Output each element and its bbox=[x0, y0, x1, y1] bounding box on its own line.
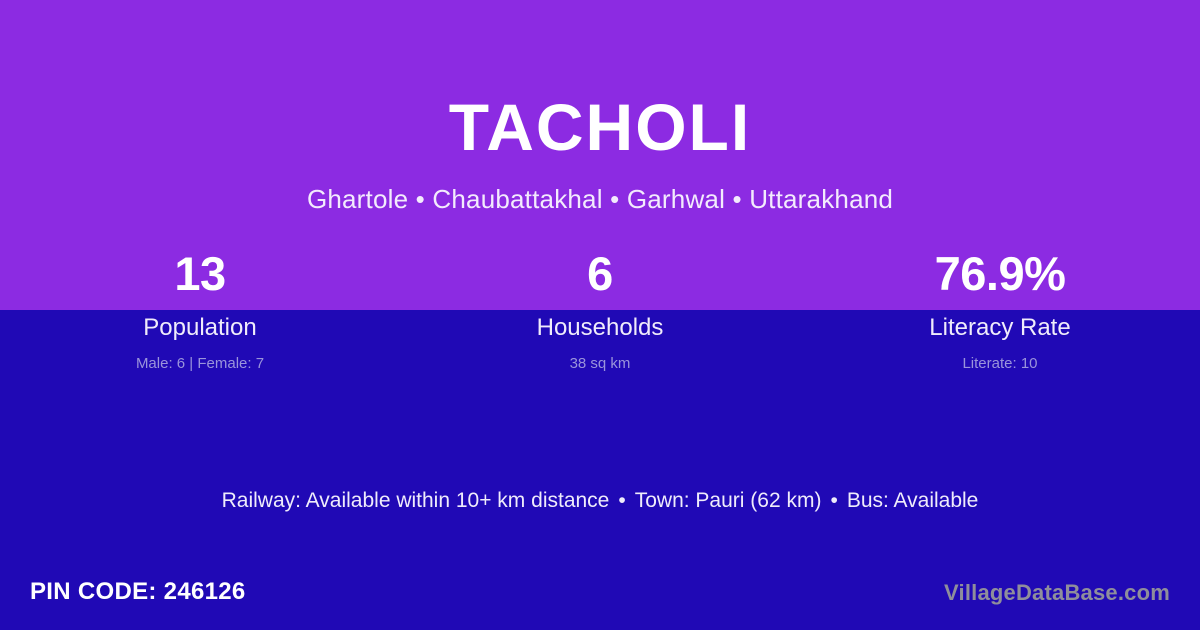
bullet-separator-icon: • bbox=[821, 487, 846, 514]
stat-households-value: 6 bbox=[400, 243, 800, 305]
page-title: TACHOLI bbox=[0, 82, 1200, 172]
stat-population-detail: Male: 6 | Female: 7 bbox=[0, 354, 400, 374]
railway-info: Railway: Available within 10+ km distanc… bbox=[222, 489, 610, 512]
stat-households-label: Households bbox=[400, 313, 800, 343]
pin-code: PIN CODE: 246126 bbox=[30, 576, 246, 608]
stats-row: 13 Population Male: 6 | Female: 7 6 Hous… bbox=[0, 243, 1200, 393]
bus-info: Bus: Available bbox=[847, 489, 979, 512]
nearest-town-info: Town: Pauri (62 km) bbox=[635, 489, 822, 512]
stat-literacy-rate-value: 76.9% bbox=[800, 243, 1200, 305]
breadcrumb: Ghartole • Chaubattakhal • Garhwal • Utt… bbox=[0, 183, 1200, 215]
village-info-card: TACHOLI Ghartole • Chaubattakhal • Garhw… bbox=[0, 0, 1200, 630]
card-footer: PIN CODE: 246126 VillageDataBase.com bbox=[0, 576, 1200, 616]
site-branding: VillageDataBase.com bbox=[944, 577, 1170, 609]
stat-households-detail: 38 sq km bbox=[400, 354, 800, 374]
bullet-separator-icon: • bbox=[609, 487, 634, 514]
stat-population-label: Population bbox=[0, 313, 400, 343]
connectivity-line: Railway: Available within 10+ km distanc… bbox=[0, 487, 1200, 514]
stat-population: 13 Population Male: 6 | Female: 7 bbox=[0, 243, 400, 393]
stat-population-value: 13 bbox=[0, 243, 400, 305]
stat-households: 6 Households 38 sq km bbox=[400, 243, 800, 393]
stat-literacy-rate-label: Literacy Rate bbox=[800, 313, 1200, 343]
stat-literacy-rate: 76.9% Literacy Rate Literate: 10 bbox=[800, 243, 1200, 393]
stat-literacy-rate-detail: Literate: 10 bbox=[800, 354, 1200, 374]
